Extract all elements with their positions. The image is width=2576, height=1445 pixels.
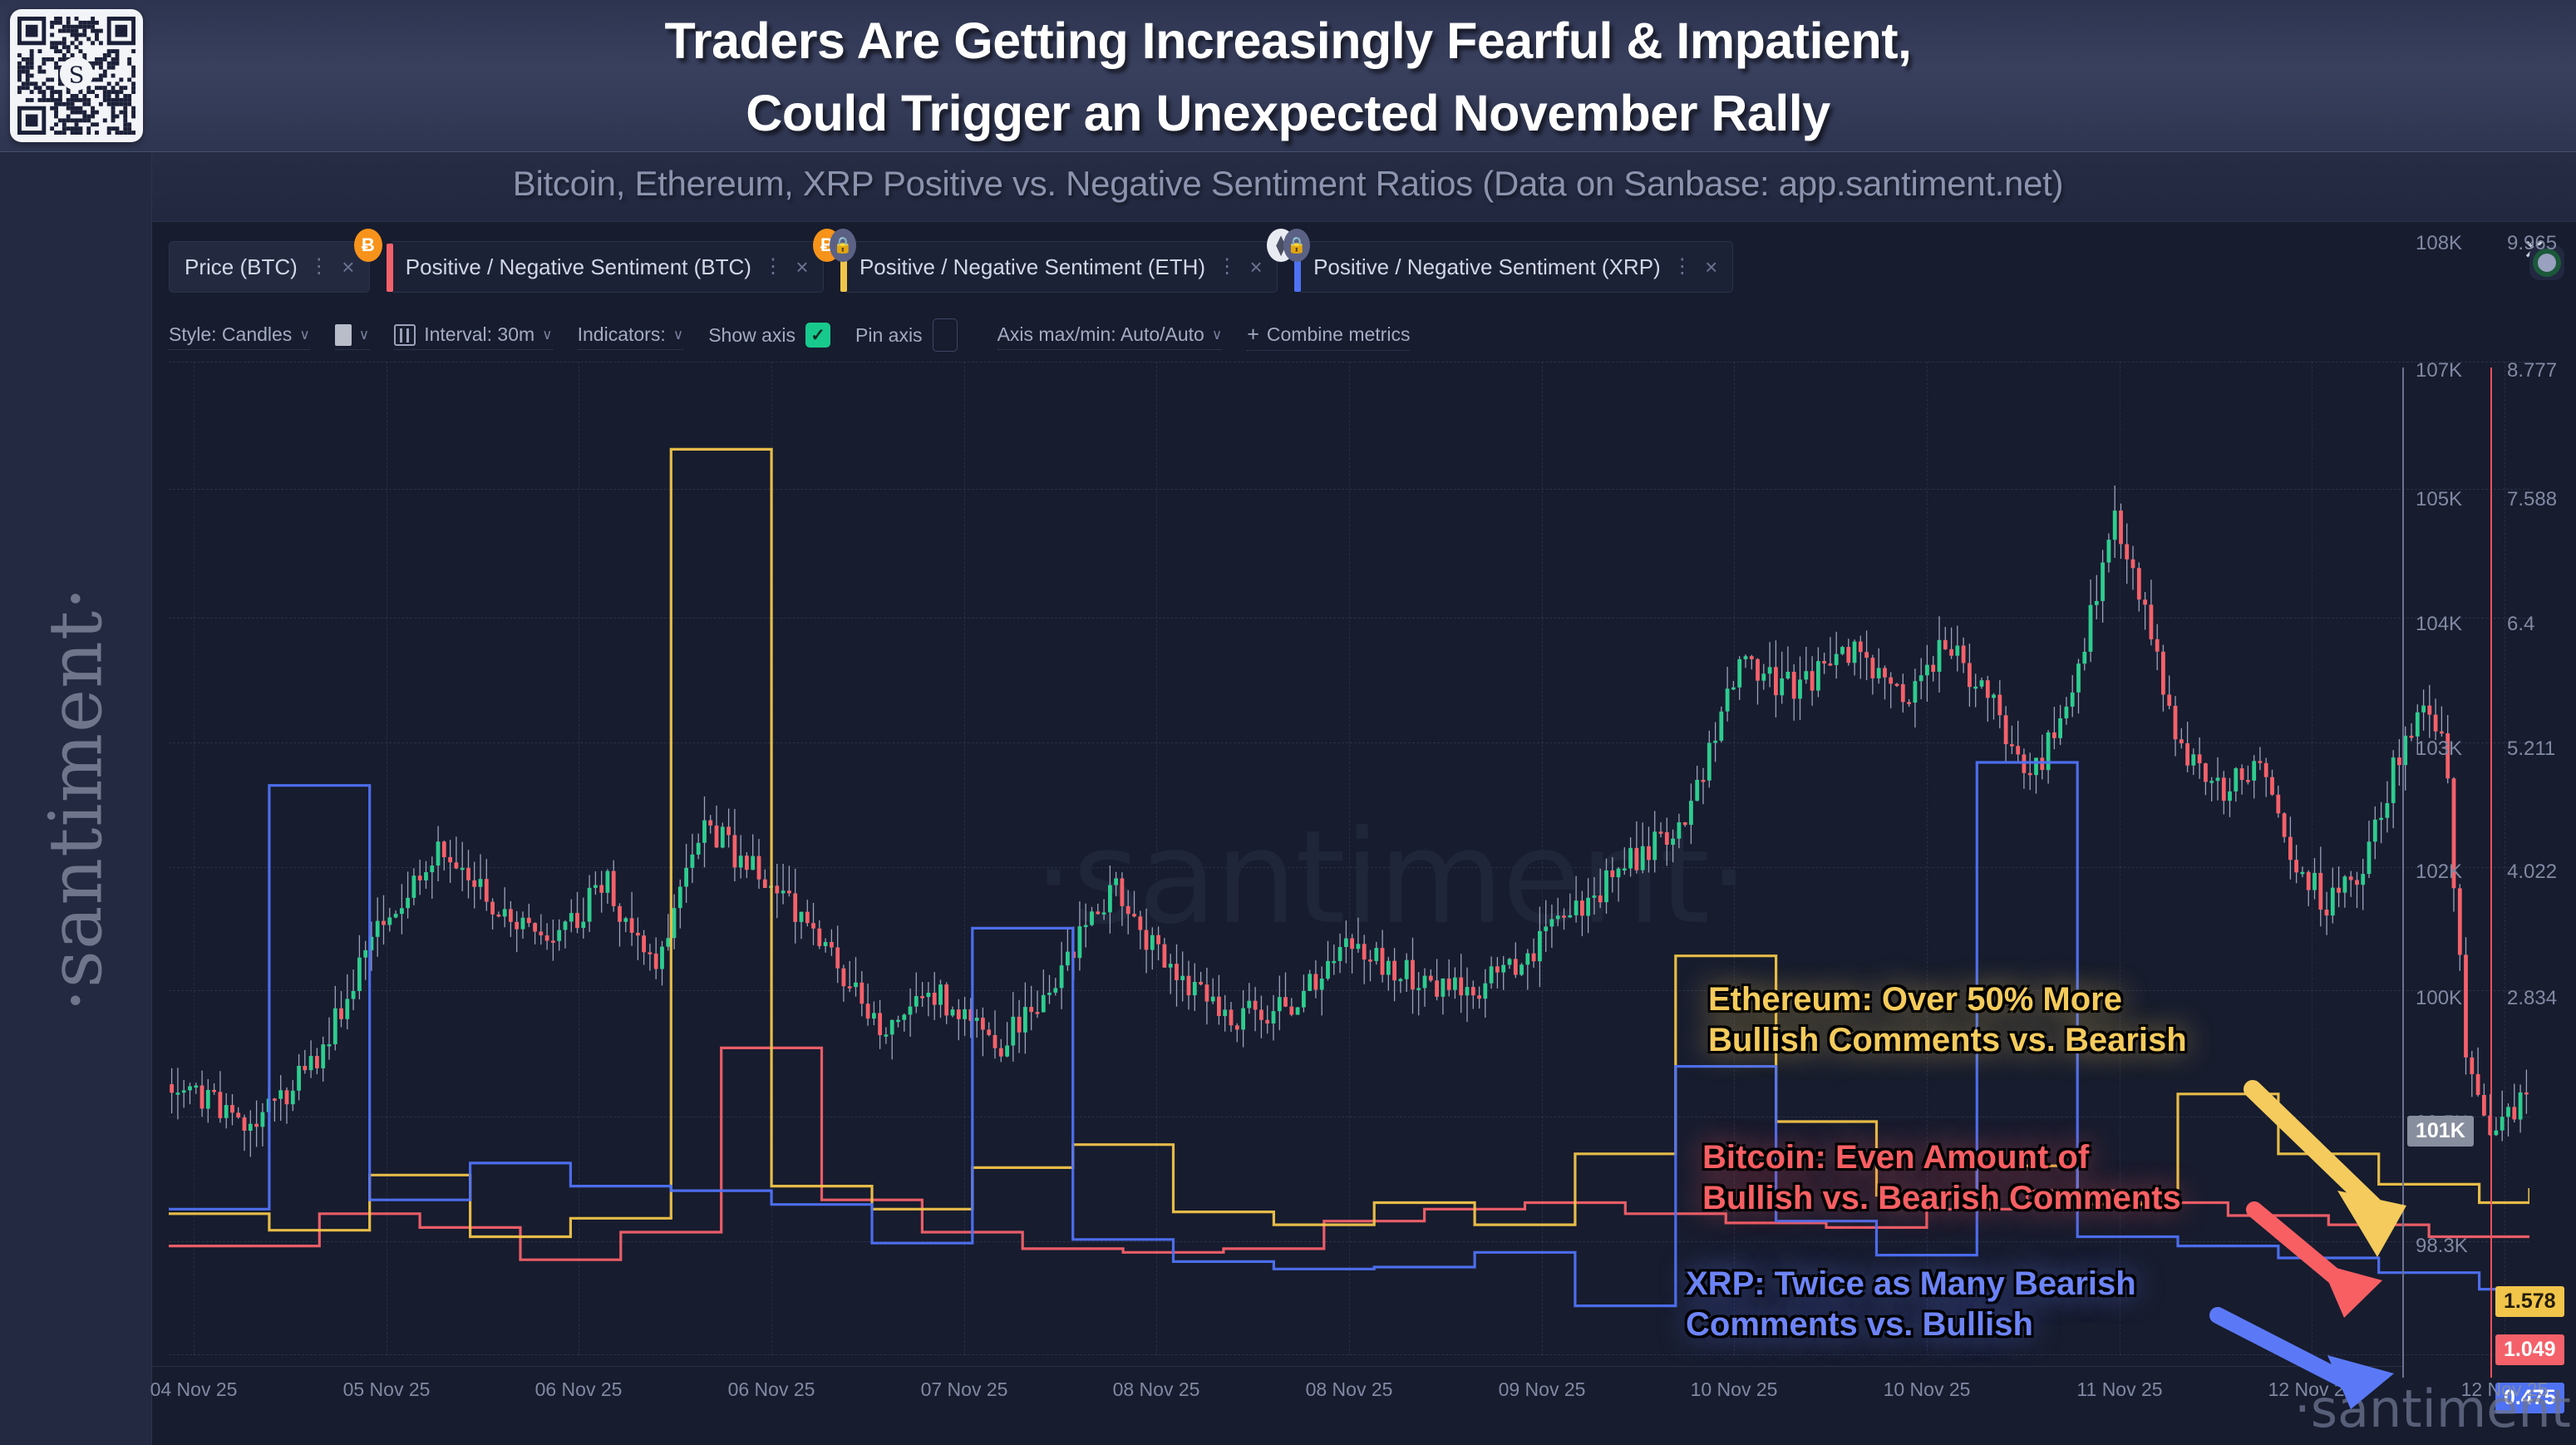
metric-tab-close-icon[interactable]: × (1247, 254, 1265, 280)
price-tick-label: 107K (2416, 359, 2462, 382)
date-tick-label: 09 Nov 25 (1499, 1378, 1586, 1401)
price-axis-line (2402, 367, 2404, 1378)
svg-text:S: S (69, 62, 85, 88)
ratio-tick-label: 5.211 (2507, 737, 2555, 761)
left-rail: ·santiment· (0, 152, 152, 1445)
ratio-tick-label: 7.588 (2507, 488, 2557, 511)
bitcoin-callout-line-1: Bitcoin: Even Amount of (1702, 1137, 2181, 1178)
metric-tab-price-btc[interactable]: Ƀ Price (BTC) ⋮ × (169, 241, 370, 293)
indicators-selector[interactable]: Indicators: ∨ (578, 323, 684, 350)
footer-watermark: ·santiment· (2294, 1378, 2576, 1439)
axis-minmax-selector[interactable]: Axis max/min: Auto/Auto ∨ (997, 323, 1223, 350)
metric-tab-sentiment-btc[interactable]: Ƀ 🔒 Positive / Negative Sentiment (BTC) … (390, 241, 824, 293)
metric-tabs: Ƀ Price (BTC) ⋮ × Ƀ 🔒 Positive / Negativ… (169, 241, 1753, 293)
date-tick-label: 07 Nov 25 (921, 1378, 1008, 1401)
metric-tab-menu-icon[interactable]: ⋮ (1217, 260, 1237, 274)
pin-axis-label: Pin axis (855, 324, 923, 347)
bitcoin-callout: Bitcoin: Even Amount of Bullish vs. Bear… (1702, 1137, 2181, 1219)
price-tick-label: 103K (2416, 737, 2462, 761)
metric-tab-menu-icon[interactable]: ⋮ (309, 260, 329, 274)
indicators-label: Indicators: (578, 323, 666, 346)
xrp-callout: XRP: Twice as Many Bearish Comments vs. … (1686, 1264, 2136, 1345)
style-selector[interactable]: Style: Candles ∨ (169, 323, 310, 350)
combine-metrics-label: Combine metrics (1267, 323, 1411, 346)
color-swatch-selector[interactable]: ∨ (335, 324, 369, 350)
bitcoin-callout-line-2: Bullish vs. Bearish Comments (1702, 1178, 2181, 1219)
date-tick-label: 08 Nov 25 (1113, 1378, 1200, 1401)
chevron-down-icon: ∨ (299, 327, 309, 343)
metric-tab-menu-icon[interactable]: ⋮ (763, 260, 783, 274)
interval-selector-label: Interval: 30m (424, 323, 534, 346)
ratio-axis[interactable]: 9.9658.7777.5886.45.2114.0222.834 1.578 … (2490, 222, 2576, 1445)
date-tick-label: 11 Nov 25 (2076, 1378, 2162, 1401)
status-indicator-dot (2538, 254, 2556, 272)
date-tick-label: 08 Nov 25 (1306, 1378, 1393, 1401)
price-tick-label: 100K (2416, 987, 2462, 1010)
lock-icon: 🔒 (830, 229, 856, 262)
rail-watermark: ·santiment· (33, 585, 119, 1011)
chart-panel: Ƀ Price (BTC) ⋮ × Ƀ 🔒 Positive / Negativ… (152, 222, 2576, 1445)
style-selector-label: Style: Candles (169, 323, 292, 346)
chevron-down-icon: ∨ (359, 327, 369, 343)
page-title: Traders Are Getting Increasingly Fearful… (0, 5, 2576, 149)
qr-code-svg: S (17, 17, 135, 135)
date-tick-label: 10 Nov 25 (1884, 1378, 1971, 1401)
page-title-line-2: Could Trigger an Unexpected November Ral… (0, 77, 2576, 150)
ratio-tick-label: 8.777 (2507, 359, 2557, 382)
subheader-bar: Bitcoin, Ethereum, XRP Positive vs. Nega… (0, 152, 2576, 222)
qr-code-icon[interactable]: S (10, 9, 143, 142)
metric-tab-sentiment-eth[interactable]: ⧫ 🔒 Positive / Negative Sentiment (ETH) … (844, 241, 1278, 293)
lock-icon: 🔒 (1283, 229, 1310, 262)
metric-tab-label: Price (BTC) (185, 254, 298, 280)
color-swatch-icon (335, 324, 352, 346)
date-tick-label: 06 Nov 25 (535, 1378, 623, 1401)
candles-icon (394, 324, 416, 346)
date-tick-label: 04 Nov 25 (150, 1378, 238, 1401)
page-title-line-1: Traders Are Getting Increasingly Fearful… (0, 5, 2576, 77)
interval-selector[interactable]: Interval: 30m ∨ (394, 323, 552, 350)
date-tick-label: 10 Nov 25 (1691, 1378, 1778, 1401)
price-tick-label: 105K (2416, 488, 2462, 511)
btc-current-value: 1.049 (2495, 1334, 2564, 1365)
metric-tab-close-icon[interactable]: × (1702, 254, 1721, 280)
chevron-down-icon: ∨ (1212, 327, 1222, 343)
price-axis[interactable]: 108K107K105K104K103K102K100K99.5K98.3K 1… (2402, 222, 2489, 1445)
chevron-down-icon: ∨ (673, 327, 683, 343)
metric-tab-label: Positive / Negative Sentiment (XRP) (1313, 254, 1661, 280)
axis-minmax-label: Axis max/min: Auto/Auto (997, 323, 1204, 346)
metric-tab-label: Positive / Negative Sentiment (ETH) (859, 254, 1205, 280)
price-tick-label: 108K (2416, 232, 2462, 255)
price-tick-label: 98.3K (2416, 1235, 2468, 1258)
ratio-axis-line (2490, 367, 2492, 1378)
metric-tab-label: Positive / Negative Sentiment (BTC) (406, 254, 751, 280)
ethereum-callout-line-1: Ethereum: Over 50% More (1708, 979, 2187, 1020)
pin-axis-checkbox[interactable] (933, 318, 958, 352)
price-tick-label: 104K (2416, 613, 2462, 636)
metric-tab-sentiment-xrp[interactable]: Positive / Negative Sentiment (XRP) ⋮ × (1298, 241, 1733, 293)
ratio-tick-label: 9.965 (2507, 232, 2557, 255)
price-tick-label: 102K (2416, 861, 2462, 884)
date-tick-label: 06 Nov 25 (728, 1378, 815, 1401)
page-subtitle: Bitcoin, Ethereum, XRP Positive vs. Nega… (0, 164, 2576, 204)
series-color-accent (387, 244, 393, 292)
combine-metrics-button[interactable]: + Combine metrics (1247, 323, 1410, 351)
show-axis-toggle[interactable]: Show axis ✓ (708, 323, 830, 351)
show-axis-label: Show axis (708, 324, 795, 347)
ratio-tick-label: 4.022 (2507, 861, 2557, 884)
xrp-callout-line-1: XRP: Twice as Many Bearish (1686, 1264, 2136, 1304)
eth-current-value: 1.578 (2495, 1286, 2564, 1317)
header-banner: Traders Are Getting Increasingly Fearful… (0, 0, 2576, 152)
ethereum-callout-line-2: Bullish Comments vs. Bearish (1708, 1020, 2187, 1061)
date-tick-label: 05 Nov 25 (343, 1378, 431, 1401)
xrp-callout-line-2: Comments vs. Bullish (1686, 1304, 2136, 1345)
metric-tab-menu-icon[interactable]: ⋮ (1672, 260, 1692, 274)
checkmark-icon[interactable]: ✓ (805, 323, 830, 348)
ratio-tick-label: 2.834 (2507, 987, 2557, 1010)
ethereum-callout: Ethereum: Over 50% More Bullish Comments… (1708, 979, 2187, 1061)
chevron-down-icon: ∨ (542, 327, 552, 343)
plus-icon: + (1247, 323, 1259, 347)
chart-toolbar: Style: Candles ∨ ∨ Interval: 30m ∨ Indic… (169, 320, 1435, 353)
bitcoin-icon: Ƀ (354, 229, 382, 262)
metric-tab-close-icon[interactable]: × (793, 254, 811, 280)
metric-tab-close-icon[interactable]: × (339, 254, 357, 280)
ratio-tick-label: 6.4 (2507, 613, 2534, 636)
pin-axis-toggle[interactable]: Pin axis (855, 318, 958, 355)
price-current-value: 101K (2407, 1116, 2474, 1147)
date-axis: 04 Nov 2505 Nov 2506 Nov 2506 Nov 2507 N… (152, 1366, 2402, 1416)
